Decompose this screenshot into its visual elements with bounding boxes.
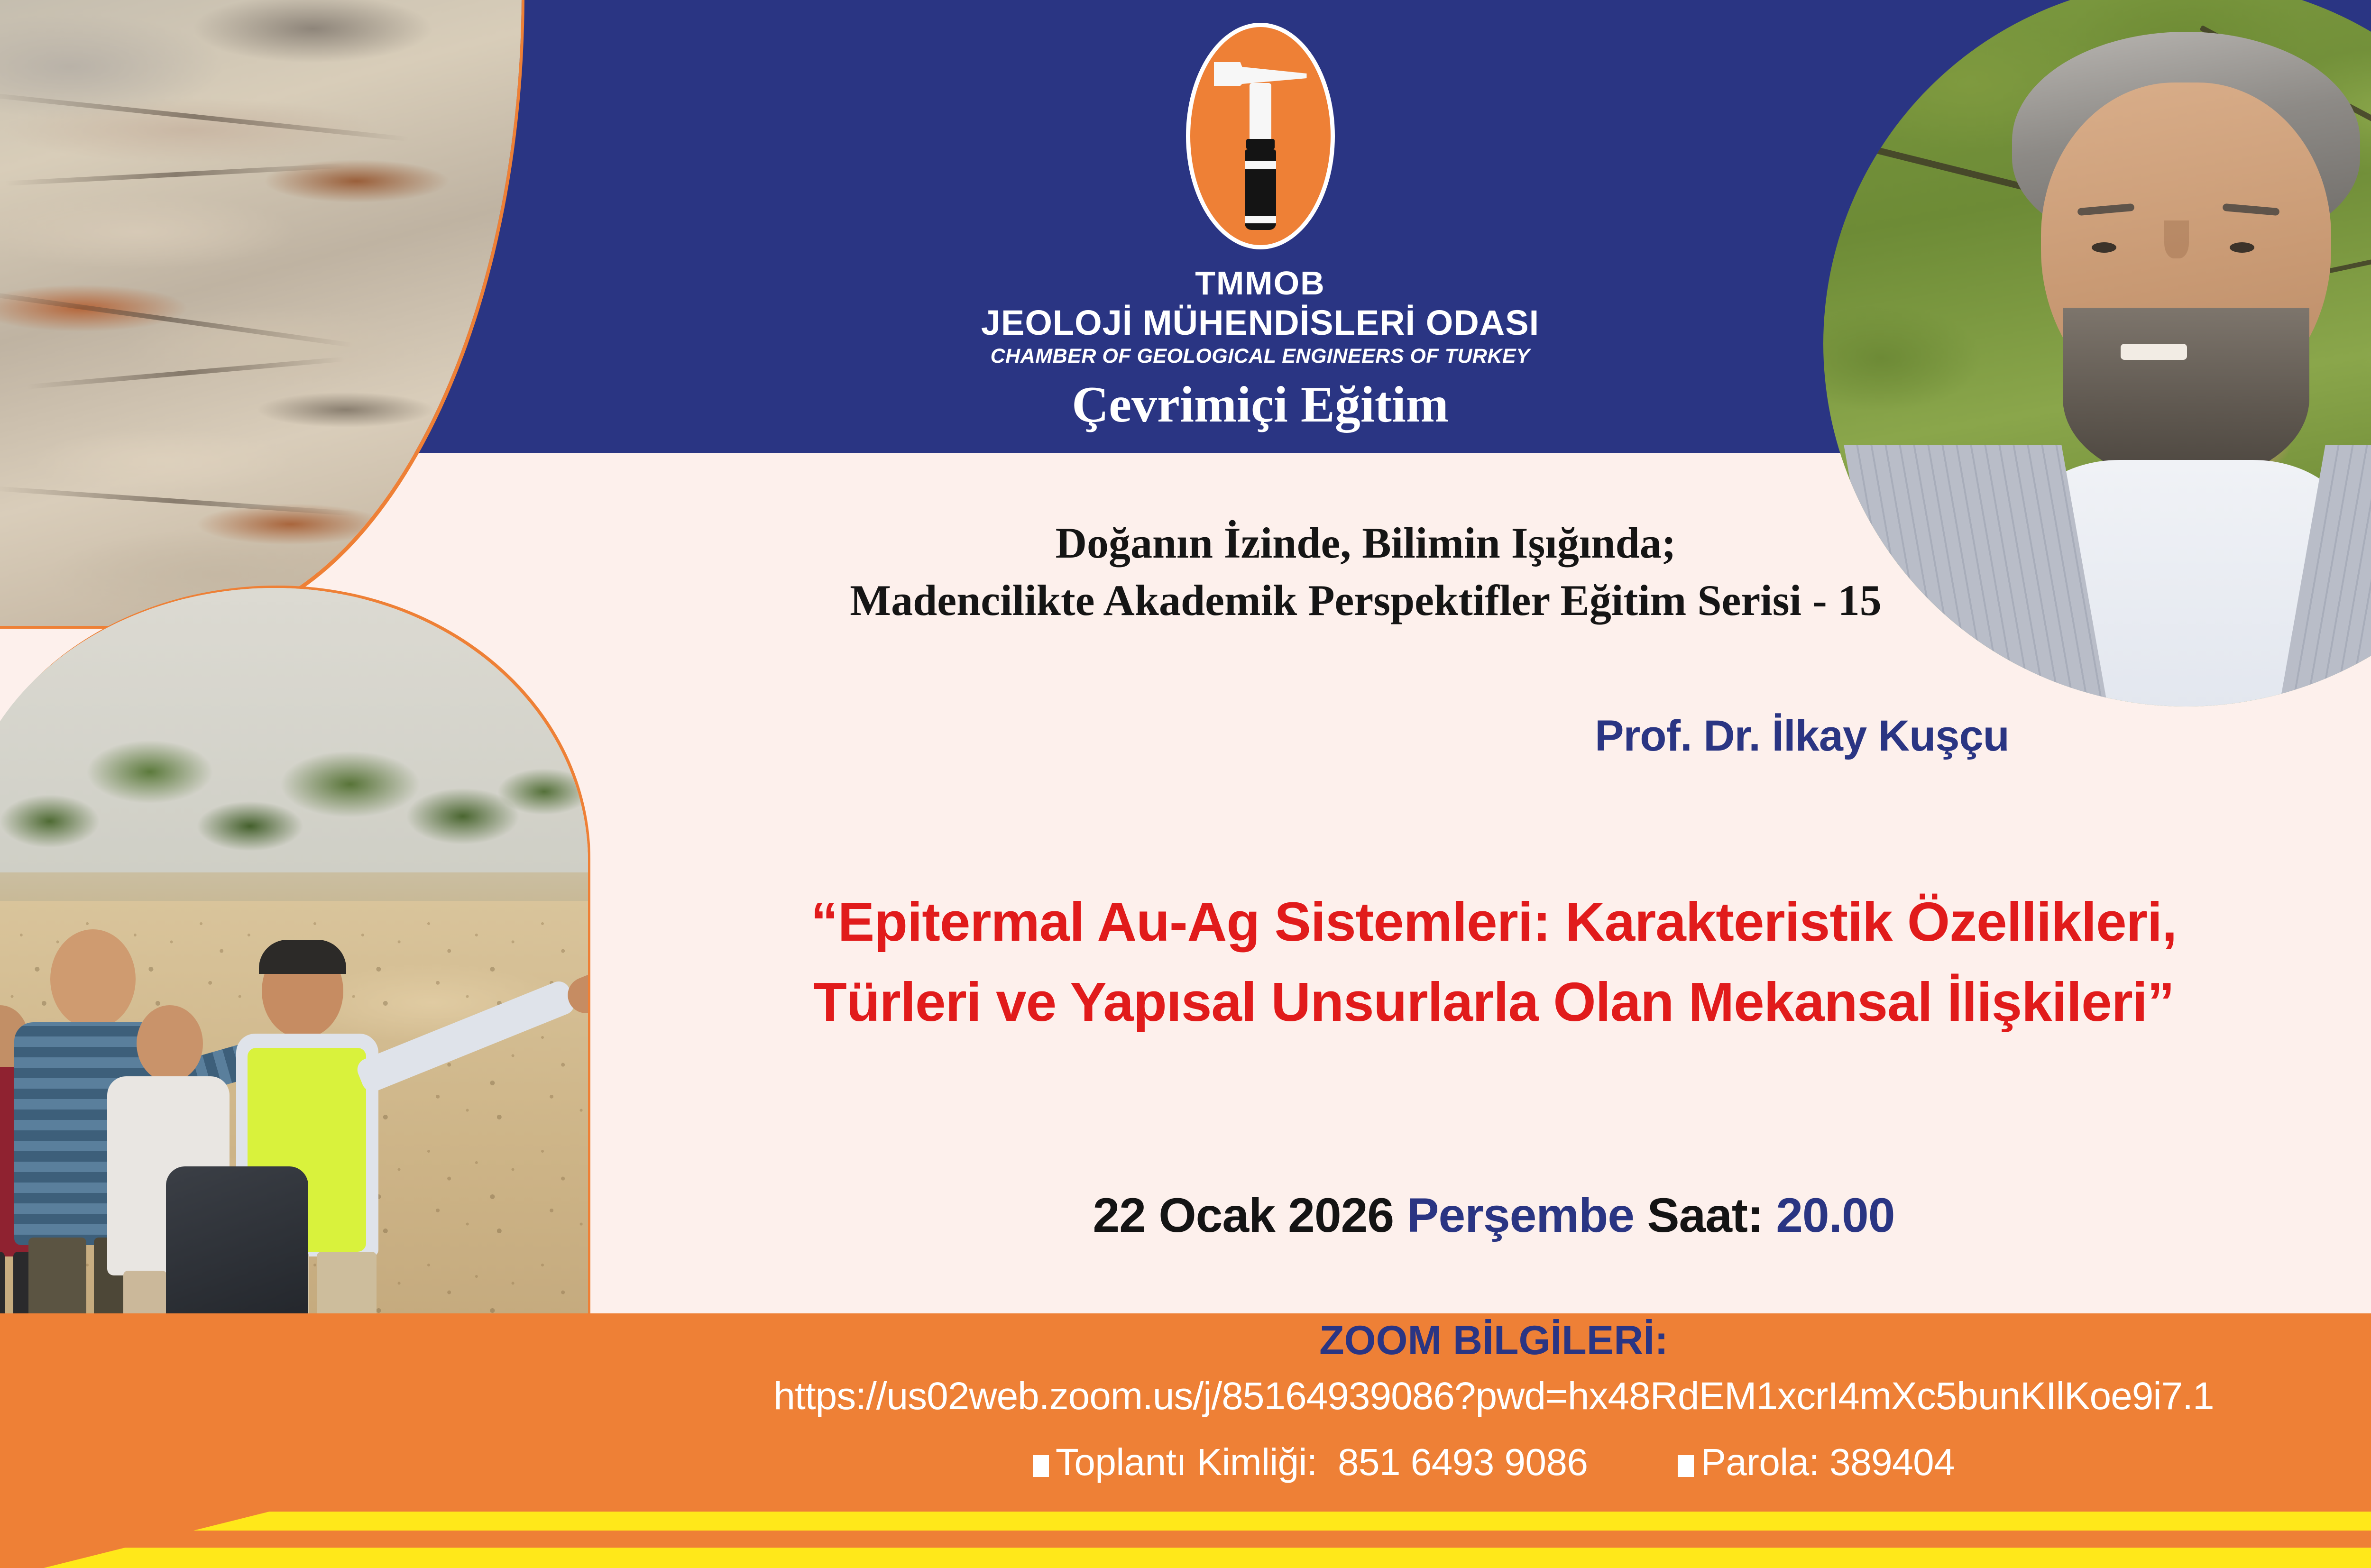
event-day: Perşembe	[1406, 1188, 1634, 1242]
meeting-id-label: Toplantı Kimliği:	[1056, 1441, 1317, 1483]
zoom-credentials: Toplantı Kimliği: 851 6493 9086Parola: 3…	[545, 1440, 2371, 1484]
organization-logo-block: TMMOB JEOLOJİ MÜHENDİSLERİ ODASI CHAMBER…	[0, 23, 2371, 367]
bullet-square-icon	[1033, 1455, 1049, 1477]
series-line-2: Madencilikte Akademik Perspektifler Eğit…	[560, 572, 2172, 629]
training-series-subtitle: Doğanın İzinde, Bilimin Işığında; Madenc…	[560, 514, 2172, 630]
bottom-stripe-orange	[0, 1531, 2371, 1548]
event-date: 22 Ocak 2026	[1093, 1188, 1394, 1242]
series-line-1: Doğanın İzinde, Bilimin Işığında;	[560, 514, 2172, 572]
logo-chamber-name-en: CHAMBER OF GEOLOGICAL ENGINEERS OF TURKE…	[991, 346, 1530, 367]
logo-acronym: TMMOB	[1195, 266, 1325, 300]
event-time: 20.00	[1776, 1188, 1894, 1242]
talk-title: “Epitermal Au-Ag Sistemleri: Karakterist…	[569, 882, 2371, 1043]
passcode-label: Parola:	[1700, 1441, 1819, 1483]
bottom-stripe-yellow-top	[0, 1512, 2371, 1531]
photo-trees	[0, 673, 588, 920]
bottom-stripe-yellow-bottom	[0, 1548, 2371, 1568]
time-label: Saat:	[1647, 1188, 1763, 1242]
bullet-square-icon	[1678, 1455, 1694, 1477]
meeting-id-value: 851 6493 9086	[1338, 1441, 1588, 1483]
schedule-line: 22 Ocak 2026 Perşembe Saat: 20.00	[569, 1188, 2371, 1243]
passcode-value: 389404	[1829, 1441, 1955, 1483]
webinar-poster: TMMOB JEOLOJİ MÜHENDİSLERİ ODASI CHAMBER…	[0, 0, 2371, 1568]
speaker-name: Prof. Dr. İlkay Kuşçu	[1233, 711, 2371, 761]
zoom-info-heading: ZOOM BİLGİLERİ:	[569, 1317, 2371, 1364]
online-training-title: Çevrimiçi Eğitim	[0, 379, 2371, 431]
talk-title-line-1: “Epitermal Au-Ag Sistemleri: Karakterist…	[569, 882, 2371, 962]
zoom-meeting-link[interactable]: https://us02web.zoom.us/j/85164939086?pw…	[545, 1374, 2371, 1419]
talk-title-line-2: Türleri ve Yapısal Unsurlarla Olan Mekan…	[569, 962, 2371, 1042]
logo-chamber-name-tr: JEOLOJİ MÜHENDİSLERİ ODASI	[981, 305, 1539, 340]
geological-hammer-icon	[1186, 23, 1335, 249]
